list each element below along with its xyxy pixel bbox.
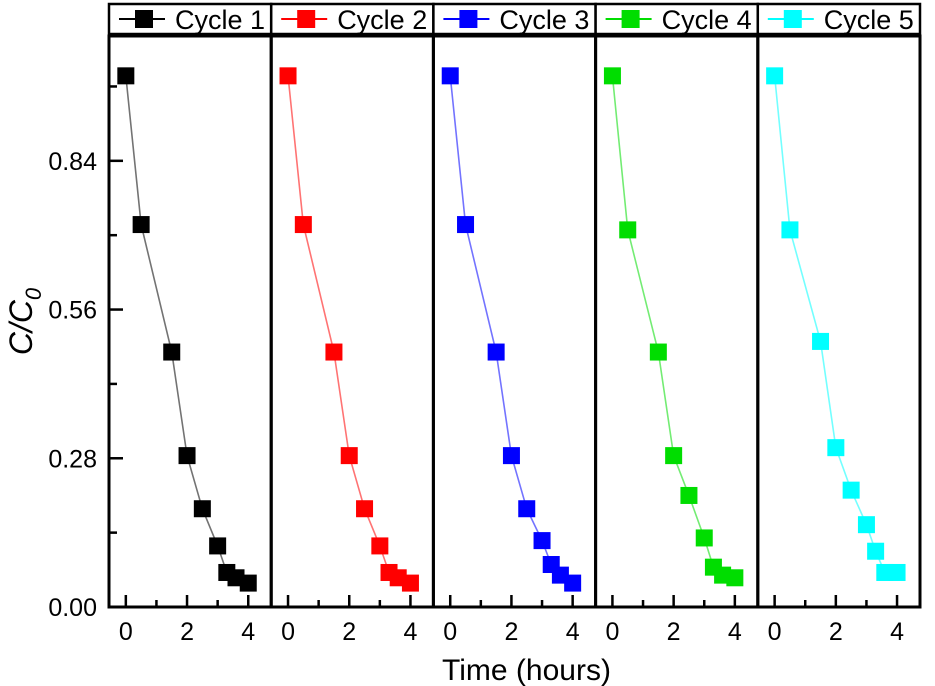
- xtick-label: 2: [180, 618, 194, 646]
- data-point[interactable]: [371, 537, 388, 554]
- xtick-label: 4: [241, 618, 255, 646]
- data-point[interactable]: [650, 344, 667, 361]
- ytick-label: 0.28: [48, 445, 97, 473]
- data-point[interactable]: [726, 569, 743, 586]
- ytick-label: 0.56: [48, 297, 97, 325]
- data-line-2: [288, 76, 410, 583]
- panel-frame-5: [758, 36, 920, 607]
- data-point[interactable]: [534, 532, 551, 549]
- data-point[interactable]: [503, 447, 520, 464]
- legend-label-3: Cycle 3: [499, 5, 589, 35]
- xtick-label: 4: [728, 618, 742, 646]
- legend-label-2: Cycle 2: [337, 5, 427, 35]
- legend-marker-1: [135, 10, 153, 28]
- data-point[interactable]: [604, 67, 621, 84]
- xtick-label: 2: [829, 618, 843, 646]
- legend-label-4: Cycle 4: [662, 5, 752, 35]
- data-point[interactable]: [457, 216, 474, 233]
- y-axis-title-sub: 0: [21, 287, 46, 300]
- data-point[interactable]: [325, 344, 342, 361]
- xtick-label: 4: [566, 618, 580, 646]
- data-point[interactable]: [402, 575, 419, 592]
- xtick-label: 2: [342, 618, 356, 646]
- data-point[interactable]: [564, 575, 581, 592]
- y-axis-title-main: C/C: [3, 299, 39, 355]
- legend-marker-4: [622, 10, 640, 28]
- ytick-label: 0.00: [48, 594, 97, 622]
- legend: Cycle 1Cycle 2Cycle 3Cycle 4Cycle 5: [109, 4, 920, 35]
- data-point[interactable]: [179, 447, 196, 464]
- xtick-label: 4: [403, 618, 417, 646]
- xtick-label: 2: [504, 618, 518, 646]
- data-point[interactable]: [812, 333, 829, 350]
- data-line-3: [450, 76, 572, 583]
- data-line-4: [612, 76, 734, 578]
- legend-marker-2: [297, 10, 315, 28]
- data-point[interactable]: [194, 500, 211, 517]
- data-point[interactable]: [209, 537, 226, 554]
- data-line-1: [126, 76, 248, 583]
- data-point[interactable]: [117, 67, 134, 84]
- x-axis-title: Time (hours): [442, 654, 611, 686]
- ytick-label: 0.84: [48, 148, 97, 176]
- xtick-label: 0: [281, 618, 295, 646]
- data-point[interactable]: [356, 500, 373, 517]
- panel-frame-2: [271, 36, 433, 607]
- data-point[interactable]: [280, 67, 297, 84]
- data-point[interactable]: [240, 575, 257, 592]
- data-point[interactable]: [781, 221, 798, 238]
- legend-marker-5: [784, 10, 802, 28]
- panel-frame-1: [109, 36, 271, 607]
- y-axis-title-text: C/C0: [3, 287, 46, 355]
- legend-marker-3: [459, 10, 477, 28]
- chart-figure: Cycle 1Cycle 2Cycle 3Cycle 4Cycle 50240.…: [0, 0, 935, 686]
- panel-frame-4: [596, 36, 758, 607]
- data-point[interactable]: [889, 564, 906, 581]
- data-point[interactable]: [133, 216, 150, 233]
- data-point[interactable]: [858, 516, 875, 533]
- panel-2: 024: [271, 36, 433, 646]
- data-line-5: [775, 76, 897, 573]
- data-point[interactable]: [843, 482, 860, 499]
- data-point[interactable]: [680, 487, 697, 504]
- data-point[interactable]: [442, 67, 459, 84]
- panel-frame-3: [433, 36, 595, 607]
- xtick-label: 4: [890, 618, 904, 646]
- xtick-label: 0: [605, 618, 619, 646]
- data-point[interactable]: [163, 344, 180, 361]
- data-point[interactable]: [341, 447, 358, 464]
- xtick-label: 2: [667, 618, 681, 646]
- xtick-label: 0: [119, 618, 133, 646]
- data-point[interactable]: [665, 447, 682, 464]
- panel-1: 0240.000.280.560.84: [48, 36, 271, 646]
- y-axis-title: C/C0: [3, 287, 46, 355]
- legend-label-5: Cycle 5: [824, 5, 914, 35]
- data-point[interactable]: [867, 543, 884, 560]
- data-point[interactable]: [518, 500, 535, 517]
- panel-5: 024: [758, 36, 920, 646]
- plot-canvas: Cycle 1Cycle 2Cycle 3Cycle 4Cycle 50240.…: [0, 0, 935, 686]
- xtick-label: 0: [768, 618, 782, 646]
- data-point[interactable]: [295, 216, 312, 233]
- data-point[interactable]: [488, 344, 505, 361]
- xtick-label: 0: [443, 618, 457, 646]
- panel-3: 024: [433, 36, 595, 646]
- data-point[interactable]: [619, 221, 636, 238]
- legend-label-1: Cycle 1: [175, 5, 265, 35]
- data-point[interactable]: [766, 67, 783, 84]
- data-point[interactable]: [827, 439, 844, 456]
- data-point[interactable]: [696, 529, 713, 546]
- panel-4: 024: [596, 36, 758, 646]
